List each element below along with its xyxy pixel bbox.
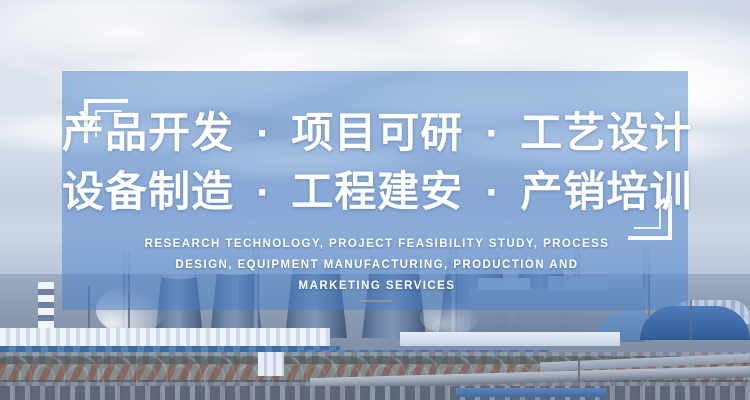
subtitle-group: RESEARCH TECHNOLOGY, PROJECT FEASIBILITY…: [132, 234, 622, 297]
factory-wall: [400, 332, 620, 346]
arched-warehouse: [640, 306, 750, 340]
factory-shed-row: [0, 328, 330, 346]
rail-yard: [0, 386, 750, 400]
headline-segment: 项目可研: [291, 108, 463, 157]
storage-silo: [258, 352, 284, 376]
headline-segment: 工程建安: [291, 167, 463, 216]
subtitle-line-3: MARKETING SERVICES: [132, 276, 622, 297]
power-pylon: [690, 300, 692, 340]
headline-group: 产品开发 · 项目可研 · 工艺设计 设备制造 · 工程建安 · 产销培训: [62, 104, 688, 222]
separator-dot: ·: [250, 173, 276, 213]
headline-line-1: 产品开发 · 项目可研 · 工艺设计: [62, 104, 688, 163]
separator-dot: ·: [479, 114, 505, 154]
headline-segment: 产销培训: [520, 167, 692, 216]
hero-banner: 产品开发 · 项目可研 · 工艺设计 设备制造 · 工程建安 · 产销培训 RE…: [0, 0, 750, 400]
headline-segment: 工艺设计: [520, 108, 692, 157]
train-car: [456, 388, 606, 397]
headline-line-2: 设备制造 · 工程建安 · 产销培训: [62, 163, 688, 222]
headline-segment: 产品开发: [62, 108, 234, 157]
separator-dot: ·: [250, 114, 276, 154]
headline-segment: 设备制造: [62, 167, 234, 216]
separator-dot: ·: [479, 173, 505, 213]
subtitle-line-2: DESIGN, EQUIPMENT MANUFACTURING, PRODUCT…: [132, 255, 622, 276]
subtitle-line-1: RESEARCH TECHNOLOGY, PROJECT FEASIBILITY…: [132, 234, 622, 255]
